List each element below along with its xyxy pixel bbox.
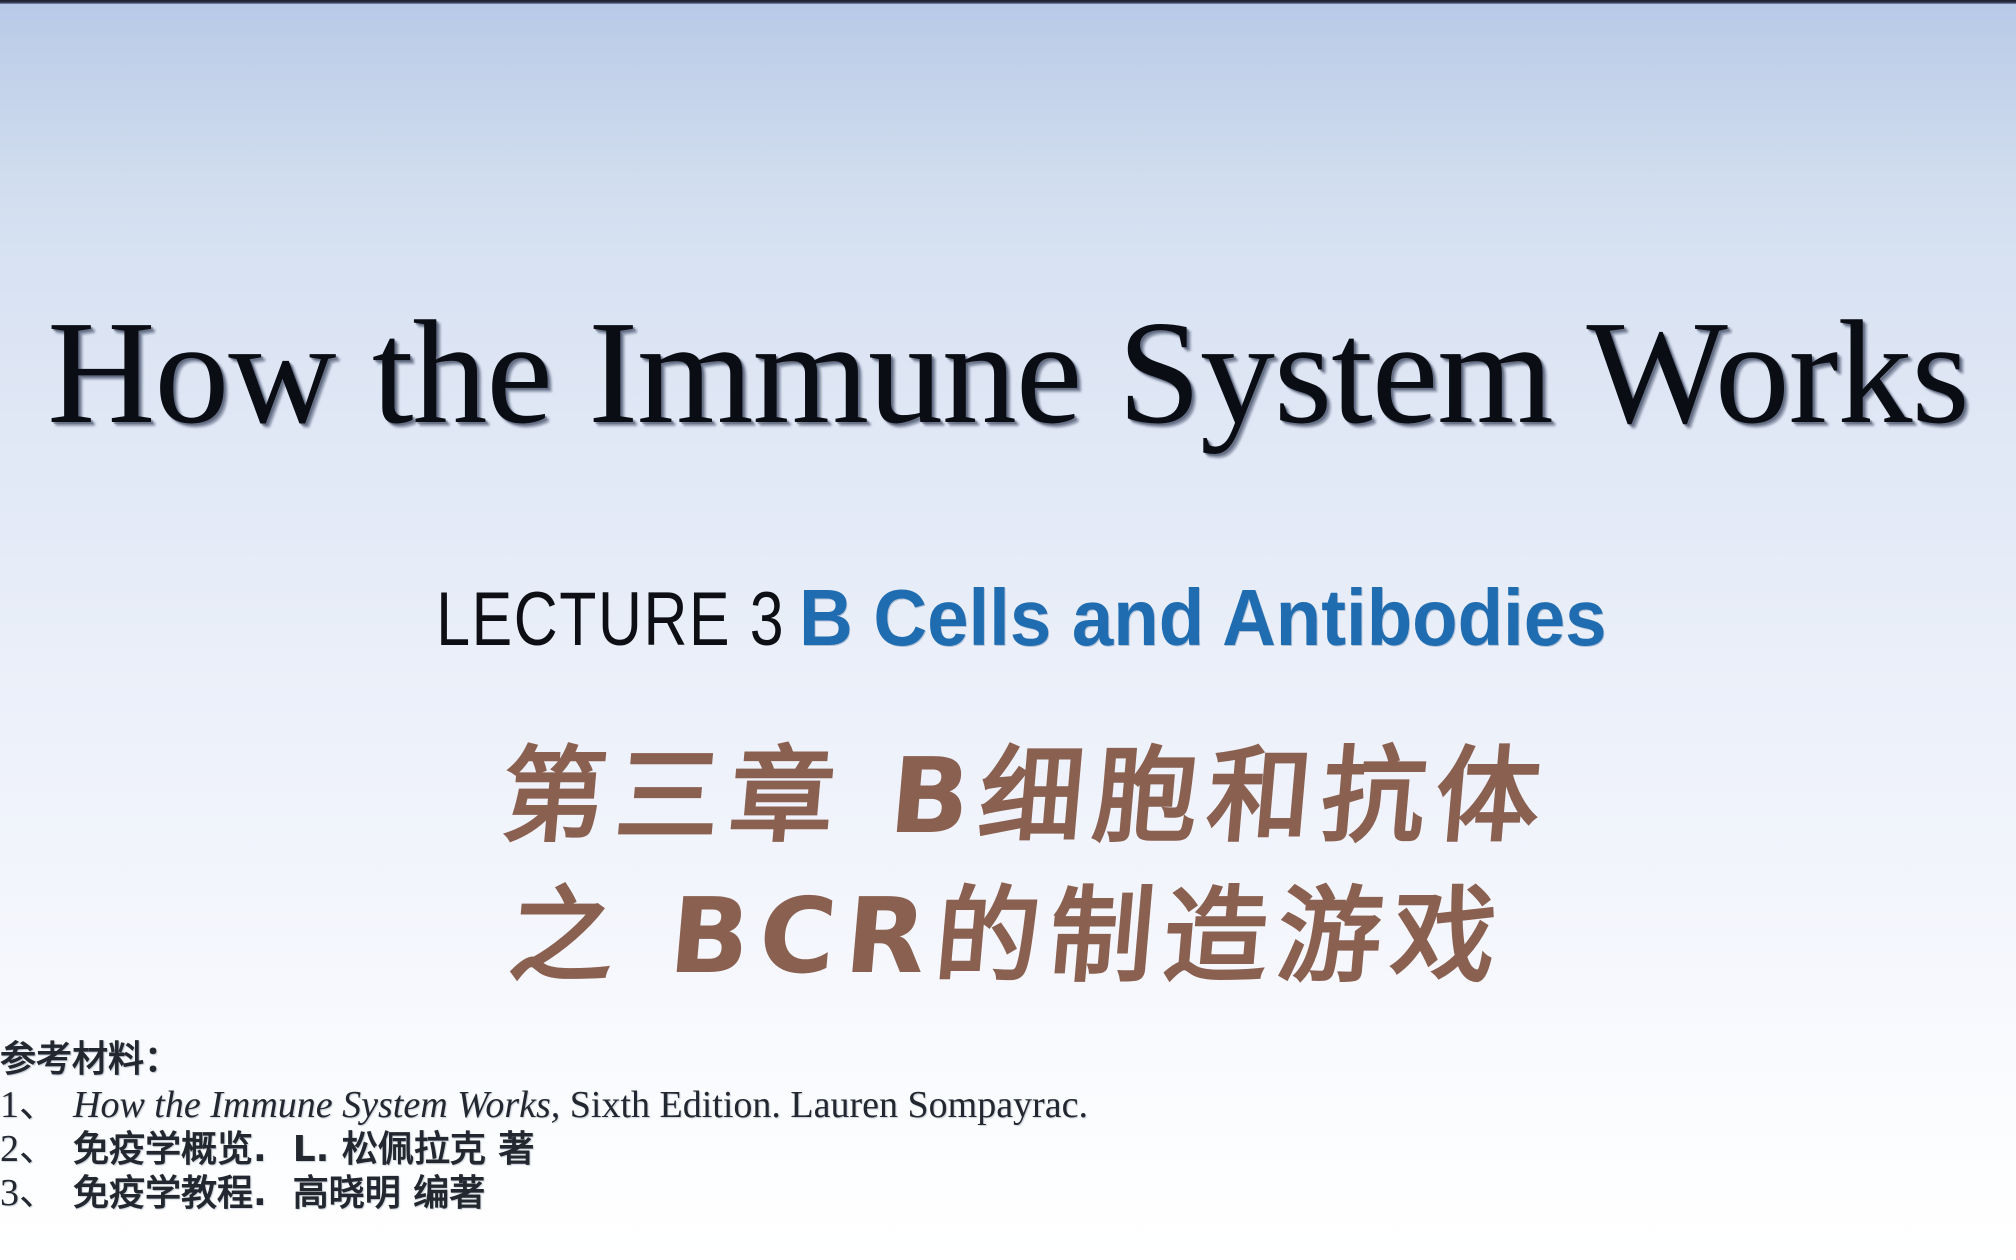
reference-item-1: 1、How the Immune System Works, Sixth Edi… — [0, 1086, 1400, 1124]
reference-item-3-title: 免疫学教程. — [73, 1173, 267, 1214]
reference-item-2-author: L. 松佩拉克 著 — [293, 1129, 535, 1170]
reference-item-1-number: 1、 — [0, 1084, 57, 1126]
reference-item-3-number: 3、 — [0, 1172, 57, 1214]
handwritten-subtitle-line-1: 第三章 B细胞和抗体 — [13, 744, 2016, 848]
reference-item-2-title: 免疫学概览. — [73, 1129, 267, 1170]
reference-list-heading: 参考材料： — [0, 1042, 1400, 1078]
lecture-number-label: LECTURE 3 — [436, 582, 785, 658]
lecture-heading: LECTURE 3B Cells and Antibodies — [0, 578, 2016, 658]
reference-item-2-number: 2、 — [0, 1128, 57, 1170]
reference-item-2: 2、免疫学概览.L. 松佩拉克 著 — [0, 1130, 1400, 1168]
slide-top-edge-band — [0, 0, 2016, 4]
handwritten-subtitle-line-2: 之 BCR的制造游戏 — [0, 884, 2016, 988]
reference-item-3: 3、免疫学教程.高晓明 编著 — [0, 1174, 1400, 1212]
reference-list: 参考材料： 1、How the Immune System Works, Six… — [0, 1042, 1400, 1218]
page-title: How the Immune System Works — [0, 299, 2016, 447]
reference-item-1-detail: Sixth Edition. Lauren Sompayrac. — [560, 1084, 1088, 1126]
lecture-topic-label: B Cells and Antibodies — [799, 578, 1606, 658]
reference-item-1-title: How the Immune System Works, — [73, 1084, 560, 1126]
presentation-slide: How the Immune System Works LECTURE 3B C… — [0, 0, 2016, 1260]
reference-item-3-author: 高晓明 编著 — [293, 1173, 486, 1214]
